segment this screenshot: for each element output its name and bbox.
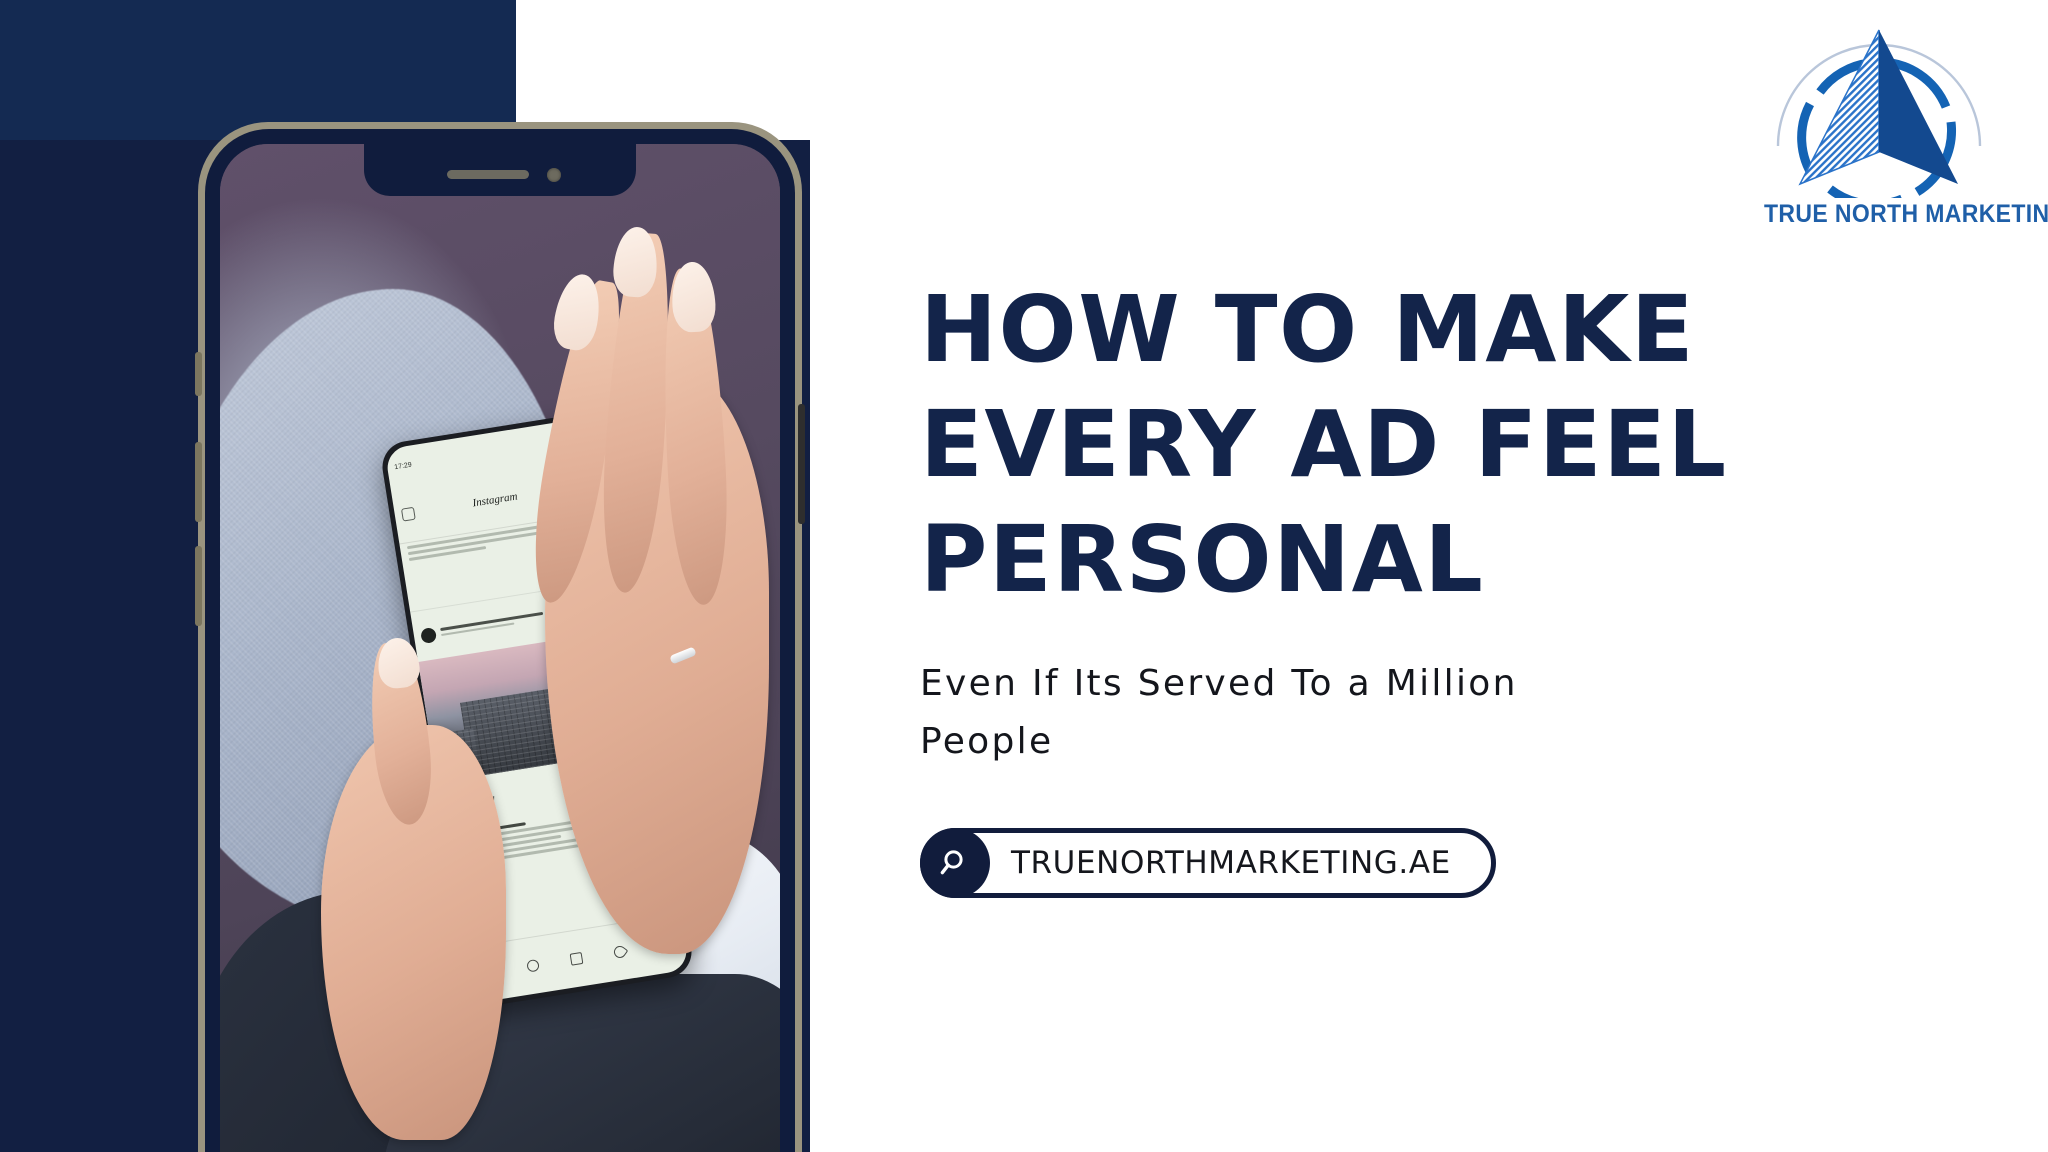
instagram-wordmark: Instagram (471, 491, 518, 510)
search-icon (920, 828, 990, 898)
earpiece-speaker-icon (447, 170, 529, 179)
lifestyle-photo: 17:29 ▮▮▰ Instagram (220, 144, 780, 1152)
brand-name: TRUE NORTH MARKETING (1764, 200, 1994, 229)
subheadline: Even If Its Served To a Million People (920, 655, 1640, 772)
nav-reels-icon[interactable] (569, 952, 583, 966)
status-time: 17:29 (394, 462, 412, 472)
phone-screen: 17:29 ▮▮▰ Instagram (220, 144, 780, 1152)
page-title: HOW TO MAKE EVERY AD FEEL PERSONAL (920, 272, 1920, 617)
content-column: HOW TO MAKE EVERY AD FEEL PERSONAL Even … (920, 272, 1920, 898)
phone-mockup: 17:29 ▮▮▰ Instagram (198, 122, 802, 1152)
headline-line-3: PERSONAL (920, 502, 1920, 617)
photo-left-hand (321, 725, 506, 1140)
website-url: TRUENORTHMARKETING.AE (1011, 845, 1451, 881)
phone-power-button (798, 404, 805, 524)
nav-search-icon[interactable] (526, 959, 540, 973)
nav-heart-icon[interactable] (611, 944, 628, 961)
phone-notch (364, 144, 636, 196)
headline-line-1: HOW TO MAKE (920, 272, 1920, 387)
brand-logo[interactable]: TRUE NORTH MARKETING (1754, 26, 2004, 229)
headline-line-2: EVERY AD FEEL (920, 387, 1920, 502)
avatar[interactable] (420, 627, 437, 644)
phone-mute-switch (195, 352, 202, 396)
poster-canvas: 17:29 ▮▮▰ Instagram (0, 0, 2048, 1152)
camera-icon[interactable] (400, 507, 415, 522)
phone-volume-down-button (195, 546, 202, 626)
front-camera-icon (547, 168, 561, 182)
website-cta-pill[interactable]: TRUENORTHMARKETING.AE (920, 828, 1496, 898)
phone-volume-up-button (195, 442, 202, 522)
photo-ring (670, 647, 697, 665)
compass-arrow-icon (1754, 26, 2004, 198)
post-username (440, 612, 543, 631)
